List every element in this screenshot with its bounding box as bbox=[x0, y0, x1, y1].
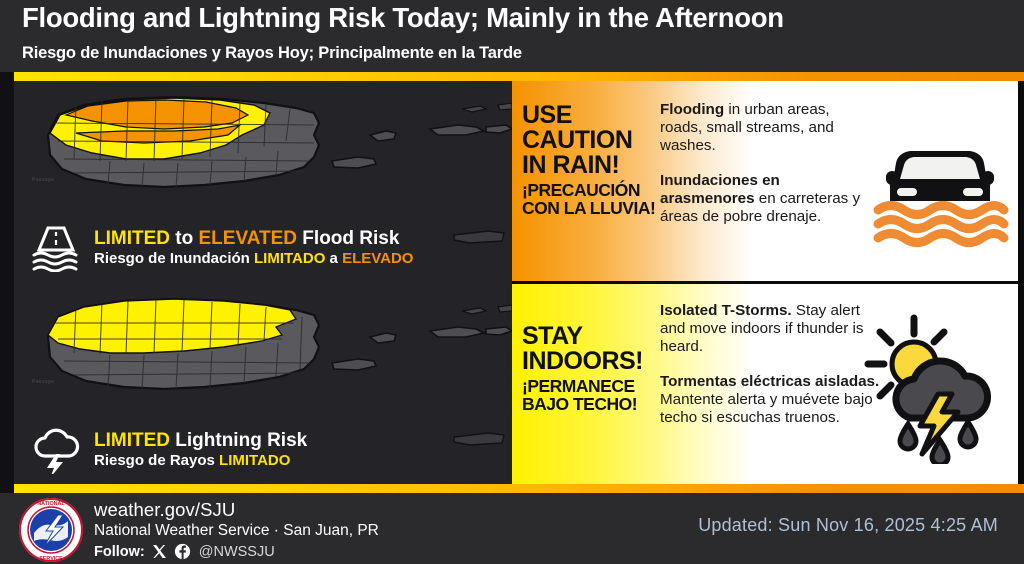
right-border-strip bbox=[1018, 81, 1024, 484]
lightning-info-panel: STAY INDOORS! ¡PERMANECE BAJO TECHO! Iso… bbox=[512, 284, 1018, 484]
footer-office: National Weather Service · San Juan, PR bbox=[94, 522, 379, 540]
lightning-legend-es-prefix: Riesgo de Rayos bbox=[94, 452, 219, 469]
flood-callout: USE CAUTION IN RAIN! ¡PRECAUCIÓN CON LA … bbox=[522, 103, 662, 217]
svg-text:SERVICE: SERVICE bbox=[39, 556, 63, 562]
flood-legend-line-es: Riesgo de Inundación LIMITADO a ELEVADO bbox=[94, 251, 413, 268]
flood-description: Flooding in urban areas, roads, small st… bbox=[660, 101, 872, 244]
flood-legend-elevado: ELEVADO bbox=[342, 250, 413, 267]
lightning-legend-suffix: Lightning Risk bbox=[170, 430, 307, 451]
flood-legend-es-prefix: Riesgo de Inundación bbox=[94, 250, 254, 267]
car-in-floodwater-icon bbox=[870, 109, 1010, 249]
lightning-callout-es: ¡PERMANECE BAJO TECHO! bbox=[522, 378, 662, 413]
updated-timestamp: Updated: Sun Nov 16, 2025 4:25 AM bbox=[698, 515, 998, 536]
x-twitter-icon[interactable] bbox=[151, 543, 168, 560]
lightning-legend-line-es: Riesgo de Rayos LIMITADO bbox=[94, 453, 307, 470]
flood-description-en: Flooding in urban areas, roads, small st… bbox=[660, 101, 872, 154]
maps-column: Passage LIMITED to ELEVATED Flood Risk R… bbox=[14, 81, 512, 484]
flood-desc-en-bold: Flooding bbox=[660, 101, 724, 118]
lightning-desc-es-rest: Mantente alerta y muévete bajo techo si … bbox=[660, 391, 873, 426]
lightning-legend-limited: LIMITED bbox=[94, 430, 170, 451]
facebook-icon[interactable] bbox=[174, 543, 191, 560]
flood-legend-limitado: LIMITADO bbox=[254, 250, 325, 267]
weather-graphic: Flooding and Lightning Risk Today; Mainl… bbox=[0, 0, 1024, 564]
flood-callout-en: USE CAUTION IN RAIN! bbox=[522, 103, 662, 178]
flood-legend-es-a: a bbox=[325, 250, 342, 267]
nws-seal-icon: NATIONAL SERVICE bbox=[18, 497, 84, 563]
flood-legend-to: to bbox=[170, 228, 199, 249]
flood-legend-elevated: ELEVATED bbox=[199, 228, 298, 249]
header-bar: Flooding and Lightning Risk Today; Mainl… bbox=[0, 0, 1024, 72]
lightning-legend-line-en: LIMITED Lightning Risk bbox=[94, 430, 307, 451]
lightning-callout: STAY INDOORS! ¡PERMANECE BAJO TECHO! bbox=[522, 324, 662, 413]
lightning-callout-en: STAY INDOORS! bbox=[522, 324, 662, 374]
lightning-desc-es-bold: Tormentas eléctricas aisladas. bbox=[660, 373, 879, 390]
flood-legend-limited: LIMITED bbox=[94, 228, 170, 249]
footer-handle: @NWSSJU bbox=[199, 544, 275, 560]
lightning-legend-limitado: LIMITADO bbox=[219, 452, 290, 469]
footer-bar: NATIONAL SERVICE weather.gov/SJU Nationa… bbox=[0, 493, 1024, 564]
footer-follow: Follow: @NWSSJU bbox=[94, 543, 379, 560]
page-subtitle: Riesgo de Inundaciones y Rayos Hoy; Prin… bbox=[22, 44, 1002, 63]
lightning-description: Isolated T-Storms. Stay alert and move i… bbox=[660, 302, 882, 445]
footer-accent-bar bbox=[14, 484, 1024, 493]
page-title: Flooding and Lightning Risk Today; Mainl… bbox=[22, 2, 1002, 34]
thunderstorm-cloud-icon bbox=[30, 426, 82, 474]
lightning-risk-legend: LIMITED Lightning Risk Riesgo de Rayos L… bbox=[30, 426, 307, 474]
footer-contact: weather.gov/SJU National Weather Service… bbox=[94, 499, 379, 560]
flood-info-panel: USE CAUTION IN RAIN! ¡PRECAUCIÓN CON LA … bbox=[512, 81, 1018, 281]
flooded-road-icon bbox=[30, 224, 82, 272]
flood-risk-map-panel: Passage LIMITED to ELEVATED Flood Risk R… bbox=[14, 81, 512, 282]
info-column: USE CAUTION IN RAIN! ¡PRECAUCIÓN CON LA … bbox=[512, 81, 1018, 484]
footer-website[interactable]: weather.gov/SJU bbox=[94, 499, 379, 521]
footer-follow-label: Follow: bbox=[94, 544, 145, 560]
lightning-risk-map-panel: Passage LIMITED Lightning Risk Riesgo de… bbox=[14, 283, 512, 484]
sun-thunderstorm-icon bbox=[864, 314, 1014, 464]
header-accent-bar bbox=[14, 72, 1024, 81]
flood-risk-legend: LIMITED to ELEVATED Flood Risk Riesgo de… bbox=[30, 224, 413, 272]
flood-legend-line-en: LIMITED to ELEVATED Flood Risk bbox=[94, 228, 413, 249]
flood-callout-es: ¡PRECAUCIÓN CON LA LLUVIA! bbox=[522, 182, 662, 217]
flood-description-es: Inundaciones en arasmenores en carretera… bbox=[660, 172, 872, 225]
lightning-desc-en-bold: Isolated T-Storms. bbox=[660, 302, 792, 319]
svg-text:NATIONAL: NATIONAL bbox=[37, 501, 65, 507]
map-annotation-passage: Passage bbox=[32, 177, 54, 183]
left-border-strip bbox=[0, 0, 14, 564]
flood-legend-suffix: Flood Risk bbox=[297, 228, 399, 249]
map-annotation-passage-2: Passage bbox=[32, 379, 54, 385]
lightning-description-en: Isolated T-Storms. Stay alert and move i… bbox=[660, 302, 882, 355]
lightning-description-es: Tormentas eléctricas aisladas. Mantente … bbox=[660, 373, 882, 426]
